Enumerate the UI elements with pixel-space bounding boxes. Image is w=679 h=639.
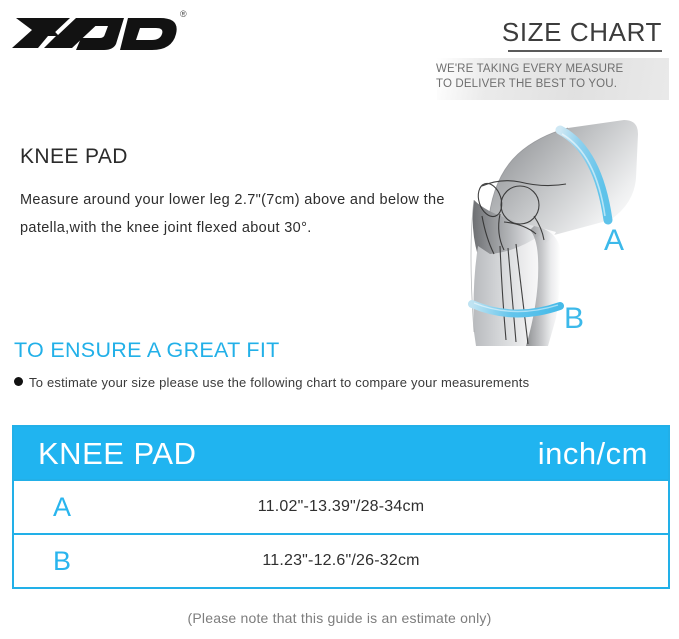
knee-measurement-illustration: A B bbox=[438, 108, 678, 348]
band-b-label: B bbox=[564, 304, 584, 334]
table-row: A 11.02"-13.39"/28-34cm bbox=[14, 479, 668, 533]
title-underline bbox=[508, 50, 662, 52]
brand-logo: ® bbox=[12, 8, 202, 60]
measurement-instructions: Measure around your lower leg 2.7"(7cm) … bbox=[20, 186, 445, 242]
tagline-line-1: WE'RE TAKING EVERY MEASURE bbox=[436, 62, 664, 77]
product-name-heading: KNEE PAD bbox=[20, 146, 128, 167]
row-key: B bbox=[14, 548, 110, 575]
tagline: WE'RE TAKING EVERY MEASURE TO DELIVER TH… bbox=[436, 62, 664, 92]
tagline-line-2: TO DELIVER THE BEST TO YOU. bbox=[436, 77, 664, 92]
size-chart-table: KNEE PAD inch/cm A 11.02"-13.39"/28-34cm… bbox=[12, 425, 670, 589]
table-header-row: KNEE PAD inch/cm bbox=[14, 427, 668, 479]
table-row: B 11.23"-12.6"/26-32cm bbox=[14, 533, 668, 587]
page-header: ® SIZE CHART WE'RE TAKING EVERY MEASURE … bbox=[0, 0, 679, 108]
registered-trademark-mark: ® bbox=[180, 10, 187, 19]
fit-heading: TO ENSURE A GREAT FIT bbox=[14, 340, 280, 362]
fit-note-text: To estimate your size please use the fol… bbox=[29, 375, 529, 390]
xjd-wordmark-logo-icon bbox=[12, 8, 180, 60]
row-key: A bbox=[14, 494, 110, 521]
row-value: 11.02"-13.39"/28-34cm bbox=[110, 499, 668, 515]
flexed-knee-anatomy-diagram-icon bbox=[438, 108, 678, 348]
band-a-label: A bbox=[604, 226, 624, 256]
fit-note: To estimate your size please use the fol… bbox=[14, 373, 614, 392]
table-header-product: KNEE PAD bbox=[38, 438, 196, 469]
row-value: 11.23"-12.6"/26-32cm bbox=[110, 553, 668, 569]
product-description-section: KNEE PAD Measure around your lower leg 2… bbox=[0, 108, 679, 340]
fit-guidance-section: TO ENSURE A GREAT FIT To estimate your s… bbox=[0, 340, 679, 412]
table-header-units: inch/cm bbox=[538, 438, 648, 469]
estimate-disclaimer: (Please note that this guide is an estim… bbox=[0, 610, 679, 626]
filled-circle-bullet-icon bbox=[14, 377, 23, 386]
page-title: SIZE CHART bbox=[502, 19, 662, 45]
